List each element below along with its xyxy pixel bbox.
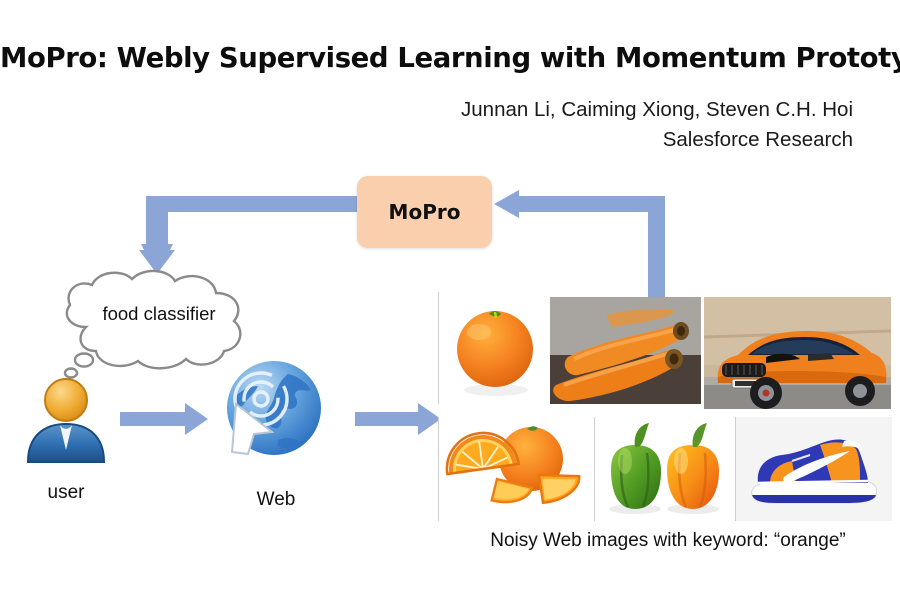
orange-car-photo[interactable] <box>704 297 891 409</box>
thought-bubble-label: food classifier <box>44 303 274 325</box>
arrow-web-to-images <box>355 403 441 435</box>
bell-peppers-photo[interactable] <box>594 417 732 521</box>
sliced-oranges-photo[interactable] <box>438 417 591 521</box>
user-label: user <box>8 482 124 504</box>
carrots-photo[interactable] <box>550 297 701 404</box>
image-grid-caption: Noisy Web images with keyword: “orange” <box>440 530 896 552</box>
slide-canvas: MoPro: Webly Supervised Learning with Mo… <box>0 0 900 600</box>
mopro-node[interactable]: MoPro <box>357 176 492 248</box>
mopro-label: MoPro <box>389 200 461 224</box>
whole-orange-photo[interactable] <box>438 292 549 404</box>
arrow-images-to-mopro <box>494 190 665 301</box>
user-avatar-icon <box>20 374 112 466</box>
sneaker-photo[interactable] <box>735 417 892 521</box>
arrow-mopro-to-classifier <box>139 196 357 276</box>
arrow-user-to-web <box>120 403 208 435</box>
noisy-web-image-grid <box>438 292 894 522</box>
globe-cursor-icon <box>216 352 336 472</box>
web-label: Web <box>216 489 336 511</box>
